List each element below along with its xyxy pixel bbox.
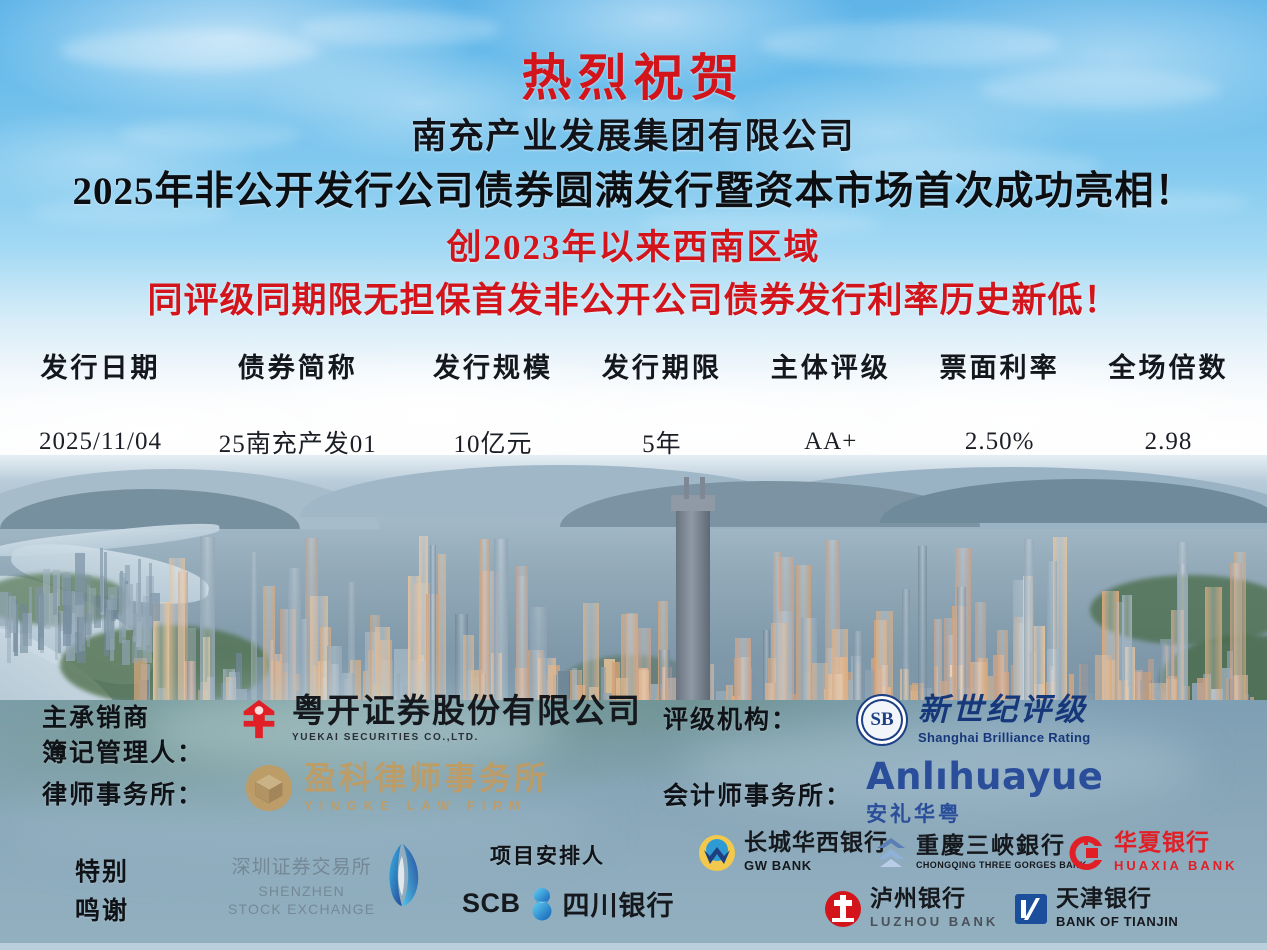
river (0, 557, 166, 703)
gw-bank-name-cn: 长城华西银行 (744, 832, 888, 855)
mid-hill (880, 479, 1267, 523)
logo-bank-of-tianjin: 天津银行 BANK OF TIANJIN (1014, 888, 1178, 929)
label-bookrunner: 簿记管理人： (42, 733, 204, 769)
logo-shenzhen-stock-exchange: 深圳证券交易所 SHENZHEN STOCK EXCHANGE (228, 852, 423, 918)
scb-abbr: SCB (462, 888, 521, 919)
bond-facts-table: 发行日期 债券简称 发行规模 发行期限 主体评级 票面利率 全场倍数 2025/… (14, 345, 1253, 461)
logo-chongqing-three-gorges-bank: 重慶三峽銀行 CHONGQING THREE GORGES BANK (874, 834, 1087, 870)
szse-name-en-2: STOCK EXCHANGE (228, 901, 375, 919)
headline-company: 南充产业发展集团有限公司 (0, 108, 1267, 159)
yingke-name-cn: 盈科律师事务所 (304, 762, 549, 794)
distant-hill (300, 465, 820, 517)
col-header-tenor: 发行期限 (577, 345, 746, 423)
headline-issuance: 2025年非公开发行公司债券圆满发行暨资本市场首次成功亮相！ (0, 160, 1267, 216)
mid-hill (560, 481, 980, 527)
col-header-issue-date: 发行日期 (14, 345, 187, 423)
headline-record-line-1: 创2023年以来西南区域 (0, 219, 1267, 270)
cell-subscription: 2.98 (1084, 423, 1253, 461)
greenery (1090, 575, 1267, 645)
greenery (60, 625, 270, 705)
distant-hill (0, 469, 380, 529)
col-header-coupon-rate: 票面利率 (915, 345, 1084, 423)
river (8, 534, 213, 614)
luzhou-bank-name-en: LUZHOU BANK (870, 914, 998, 929)
table-row: 2025/11/04 25南充产发01 10亿元 5年 AA+ 2.50% 2.… (14, 423, 1253, 461)
label-special-thanks-2: 鸣谢 (75, 891, 129, 927)
label-lead-underwriter: 主承销商 (42, 698, 150, 734)
yuekai-mark-icon (236, 696, 282, 742)
luzhou-bank-name-cn: 泸州银行 (870, 888, 998, 911)
celebration-poster: 热烈祝贺 南充产业发展集团有限公司 2025年非公开发行公司债券圆满发行暨资本市… (0, 0, 1267, 950)
col-header-issuer-rating: 主体评级 (746, 345, 915, 423)
label-accounting-firm: 会计师事务所： (663, 776, 852, 812)
yuekai-name-en: YUEKAI SECURITIES CO.,LTD. (292, 732, 642, 743)
anlihuayue-name-en: Anlıhuayue (866, 758, 1103, 795)
cell-bond-name: 25南充产发01 (187, 423, 409, 461)
anlihuayue-name-cn: 安礼华粤 (866, 798, 1103, 828)
logo-luzhou-bank: 泸州银行 LUZHOU BANK (824, 888, 998, 929)
cqtg-bank-text-block: 重慶三峽銀行 CHONGQING THREE GORGES BANK (916, 834, 1087, 870)
huaxia-bank-text-block: 华夏银行 HUAXIA BANK (1114, 832, 1238, 873)
landmark-tower-spire (700, 477, 705, 499)
logo-yingke-law-firm: 盈科律师事务所 YINGKE LAW FIRM (246, 762, 549, 813)
col-header-subscription: 全场倍数 (1084, 345, 1253, 423)
label-law-firm: 律师事务所： (42, 775, 204, 811)
huaxia-bank-name-en: HUAXIA BANK (1114, 858, 1238, 873)
szse-text-block: 深圳证券交易所 SHENZHEN STOCK EXCHANGE (228, 852, 375, 918)
greenery (0, 573, 130, 625)
cell-tenor: 5年 (577, 423, 746, 461)
landmark-tower-crown (671, 495, 715, 511)
landmark-tower-spire (684, 477, 689, 499)
river (0, 519, 220, 561)
cell-issue-size: 10亿元 (409, 423, 578, 461)
cqtg-bank-name-cn: 重慶三峽銀行 (916, 834, 1087, 857)
logo-anlihuayue: Anlıhuayue 安礼华粤 (866, 758, 1103, 828)
huaxia-bank-name-cn: 华夏银行 (1114, 832, 1238, 855)
brilliance-name-en: Shanghai Brilliance Rating (918, 730, 1091, 745)
label-project-arranger: 项目安排人 (490, 840, 605, 870)
headline-record-line-2: 同评级同期限无担保首发非公开公司债券发行利率历史新低！ (0, 272, 1267, 323)
mid-hill (0, 489, 300, 529)
distant-hill (700, 467, 1267, 529)
col-header-issue-size: 发行规模 (409, 345, 578, 423)
cell-coupon-rate: 2.50% (915, 423, 1084, 461)
brilliance-text-block: 新世纪评级 Shanghai Brilliance Rating (918, 695, 1091, 745)
logo-huaxia-bank: 华夏银行 HUAXIA BANK (1068, 832, 1238, 873)
logo-gw-bank: 长城华西银行 GW BANK (698, 832, 888, 873)
huaxia-bank-mark-icon (1068, 834, 1106, 872)
yingke-cube-icon (246, 765, 292, 811)
tianjin-bank-mark-icon (1014, 892, 1048, 926)
scb-mark-icon (529, 887, 555, 921)
luzhou-bank-mark-icon (824, 890, 862, 928)
brilliance-seal-icon: SB (856, 694, 908, 746)
label-special-thanks-1: 特别 (75, 852, 129, 888)
col-header-bond-name: 债券简称 (187, 345, 409, 423)
gw-bank-name-en: GW BANK (744, 858, 888, 873)
szse-name-cn: 深圳证券交易所 (228, 852, 375, 879)
yuekai-name-cn: 粤开证券股份有限公司 (292, 694, 642, 727)
szse-leaf-icon (381, 842, 423, 904)
gw-bank-text-block: 长城华西银行 GW BANK (744, 832, 888, 873)
logo-yuekai-securities: 粤开证券股份有限公司 YUEKAI SECURITIES CO.,LTD. (236, 694, 642, 743)
yingke-name-en: YINGKE LAW FIRM (304, 798, 549, 813)
tianjin-bank-name-cn: 天津银行 (1056, 888, 1178, 911)
brilliance-name-cn: 新世纪评级 (918, 695, 1091, 726)
logo-shanghai-brilliance-rating: SB 新世纪评级 Shanghai Brilliance Rating (856, 694, 1091, 746)
bottom-edge-strip (0, 943, 1267, 950)
szse-name-en-1: SHENZHEN (228, 883, 375, 901)
tianjin-bank-text-block: 天津银行 BANK OF TIANJIN (1056, 888, 1178, 929)
cell-issuer-rating: AA+ (746, 423, 915, 461)
tianjin-bank-name-en: BANK OF TIANJIN (1056, 914, 1178, 929)
headline-congrats: 热烈祝贺 (0, 38, 1267, 110)
luzhou-bank-text-block: 泸州银行 LUZHOU BANK (870, 888, 998, 929)
gw-bank-mark-icon (698, 834, 736, 872)
cqtg-bank-name-en: CHONGQING THREE GORGES BANK (916, 860, 1087, 870)
yingke-text-block: 盈科律师事务所 YINGKE LAW FIRM (304, 762, 549, 813)
scb-name-cn: 四川银行 (563, 884, 675, 923)
cqtg-bank-mark-icon (874, 835, 908, 869)
cell-issue-date: 2025/11/04 (14, 423, 187, 461)
table-header-row: 发行日期 债券简称 发行规模 发行期限 主体评级 票面利率 全场倍数 (14, 345, 1253, 423)
yuekai-text-block: 粤开证券股份有限公司 YUEKAI SECURITIES CO.,LTD. (292, 694, 642, 743)
label-rating-agency: 评级机构： (663, 700, 798, 736)
logo-sichuan-bank: SCB 四川银行 (462, 884, 675, 923)
